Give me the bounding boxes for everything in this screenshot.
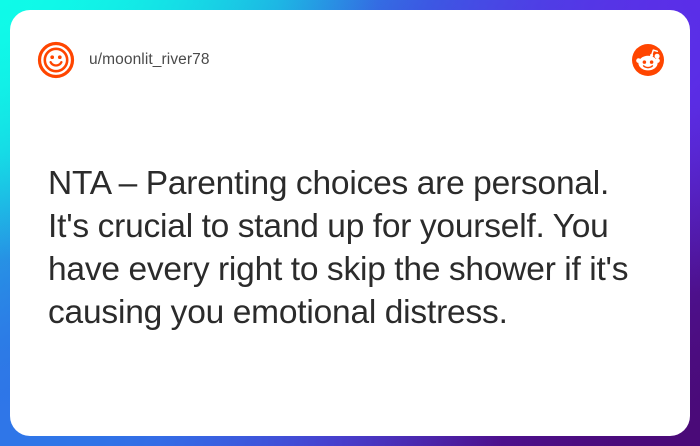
screenshot-root: u/moonlit_river78 NTA – Parenting choice…	[0, 0, 700, 446]
reddit-post-card: u/moonlit_river78 NTA – Parenting choice…	[10, 10, 690, 436]
avatar[interactable]	[37, 41, 75, 79]
post-body-text: NTA – Parenting choices are personal. It…	[48, 162, 656, 334]
reddit-snoo-icon[interactable]	[632, 44, 664, 76]
post-header: u/moonlit_river78	[37, 38, 664, 82]
username-label: u/moonlit_river78	[89, 51, 210, 69]
